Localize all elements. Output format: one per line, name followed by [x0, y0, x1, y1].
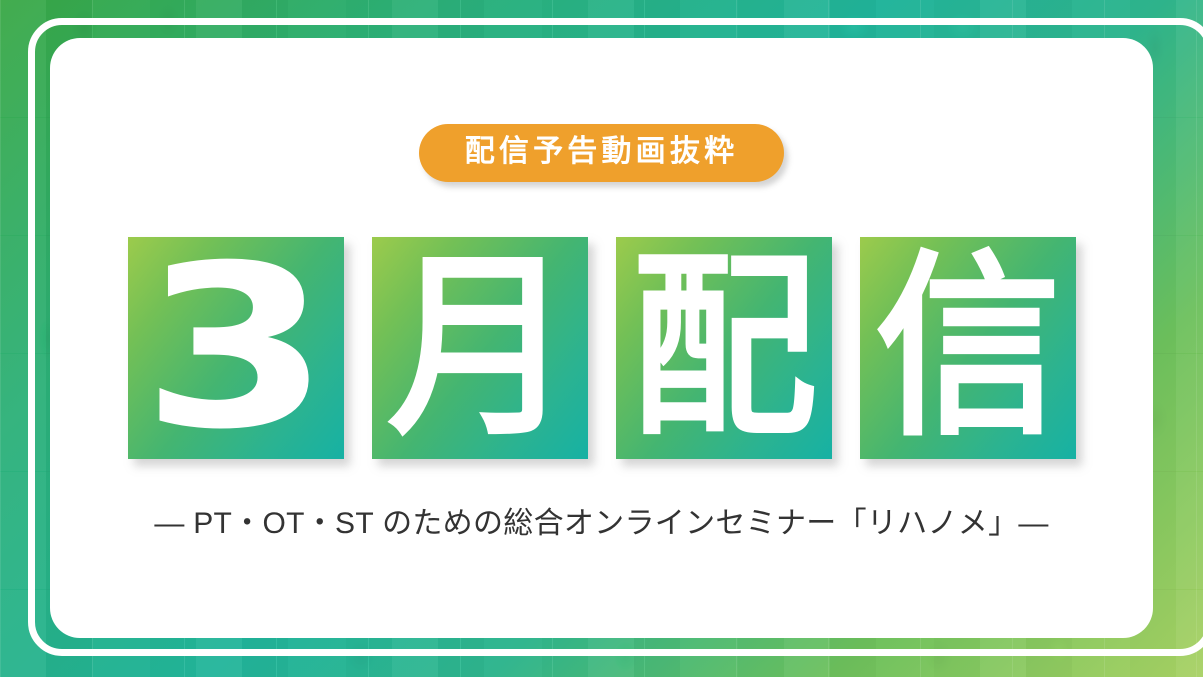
seminar-subtitle: ― PT・OT・ST のための総合オンラインセミナー「リハノメ」― — [0, 498, 1203, 542]
kanji-tile: 3 — [128, 237, 344, 459]
kanji-tile-row: 3 月 配 信 — [0, 237, 1203, 459]
badge-container: 配信予告動画抜粋 — [0, 124, 1203, 182]
tile-glyph: 配 — [630, 249, 816, 447]
tile-glyph: 月 — [386, 249, 572, 447]
tile-glyph: 信 — [874, 249, 1060, 447]
kanji-tile: 配 — [616, 237, 832, 459]
slide-root: 配信予告動画抜粋 3 月 配 信 ― PT・OT・ST のための総合オンラインセ… — [0, 0, 1203, 677]
announcement-badge: 配信予告動画抜粋 — [419, 124, 785, 182]
kanji-tile: 月 — [372, 237, 588, 459]
kanji-tile: 信 — [860, 237, 1076, 459]
tile-glyph: 3 — [141, 236, 330, 461]
